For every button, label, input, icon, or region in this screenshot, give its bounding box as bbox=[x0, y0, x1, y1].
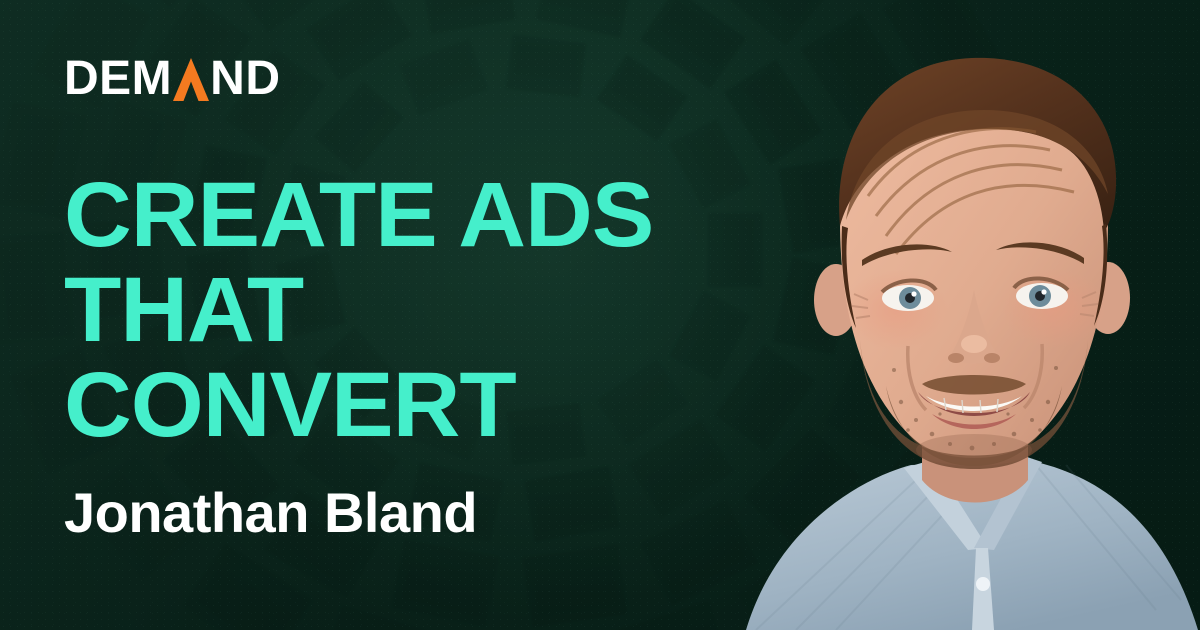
orange-chevron-a-icon bbox=[173, 58, 209, 101]
headline-line-3: CONVERT bbox=[64, 358, 778, 453]
promo-card: DEM ND CREATE ADS THAT CONVERT Jonathan … bbox=[0, 0, 1200, 630]
speaker-name: Jonathan Bland bbox=[64, 484, 477, 542]
headline: CREATE ADS THAT CONVERT bbox=[64, 168, 764, 453]
demand-logo: DEM ND bbox=[64, 54, 281, 102]
headline-line-1: CREATE ADS bbox=[64, 168, 778, 263]
logo-text-before: DEM bbox=[64, 56, 172, 102]
logo-text-after: ND bbox=[210, 56, 280, 102]
headline-line-2: THAT bbox=[64, 263, 778, 358]
